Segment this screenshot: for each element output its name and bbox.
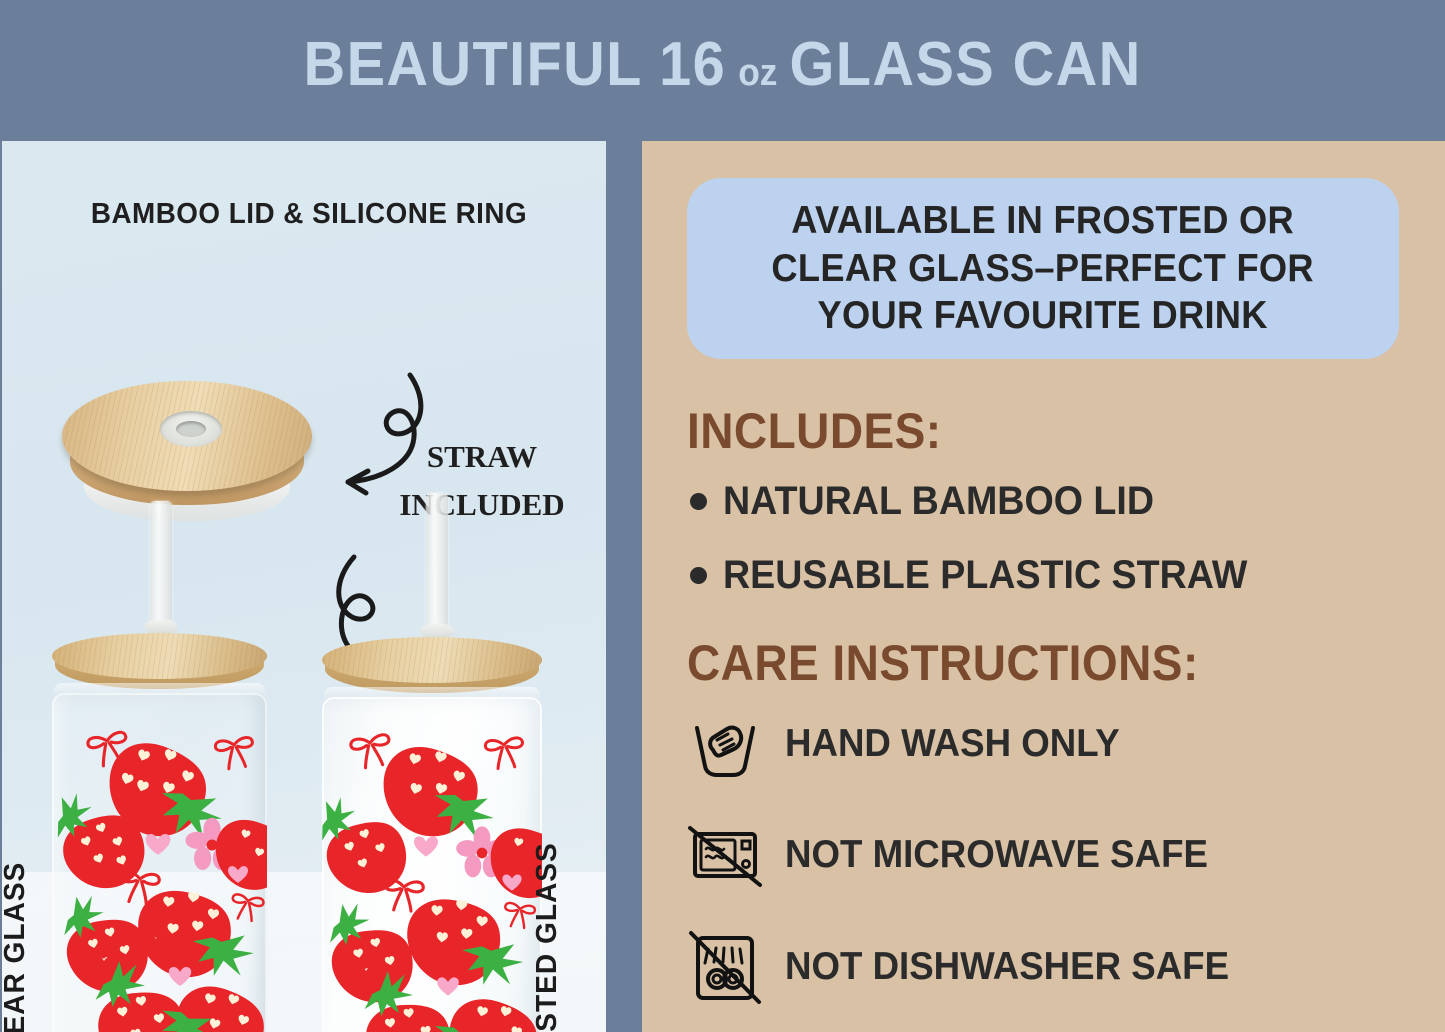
frosted-glass-can xyxy=(322,493,542,1032)
callout-line-1: AVAILABLE IN FROSTED OR xyxy=(772,197,1314,245)
lid-straw-hole xyxy=(160,411,222,447)
product-infographic: BEAUTIFUL 16 oz GLASS CAN BAMBOO LID & S… xyxy=(0,0,1445,1032)
straw-heading-line-1: STRAW xyxy=(372,433,592,481)
bamboo-lid-heading: BAMBOO LID & SILICONE RING xyxy=(26,198,592,231)
frosted-can-straw xyxy=(426,493,448,633)
includes-item-plastic-straw: REUSABLE PLASTIC STRAW xyxy=(690,553,1281,598)
includes-item-label: NATURAL BAMBOO LID xyxy=(723,479,1154,524)
frosted-glass-label: FROSTED GLASS xyxy=(531,842,564,1032)
strawberry-pattern-clear xyxy=(52,693,267,1032)
no-dishwasher-icon xyxy=(687,929,763,1005)
clear-can-straw xyxy=(150,501,172,629)
bullet-dot-icon xyxy=(690,567,707,584)
care-item-no-microwave: NOT MICROWAVE SAFE xyxy=(687,817,1235,893)
care-item-hand-wash: HAND WASH ONLY xyxy=(687,706,1141,782)
header-title-main: BEAUTIFUL 16 xyxy=(303,29,726,100)
care-item-no-dishwasher: NOT DISHWASHER SAFE xyxy=(687,929,1257,1005)
product-details-panel: AVAILABLE IN FROSTED OR CLEAR GLASS–PERF… xyxy=(642,141,1445,1032)
care-item-label: NOT DISHWASHER SAFE xyxy=(785,945,1229,989)
callout-line-2: CLEAR GLASS–PERFECT FOR xyxy=(772,245,1314,293)
includes-item-label: REUSABLE PLASTIC STRAW xyxy=(723,553,1247,598)
clear-can-body xyxy=(52,693,267,1032)
no-microwave-icon xyxy=(687,817,763,893)
includes-item-bamboo-lid: NATURAL BAMBOO LID xyxy=(690,479,1181,524)
availability-callout-text: AVAILABLE IN FROSTED OR CLEAR GLASS–PERF… xyxy=(772,197,1314,340)
frosted-can-lid-disc xyxy=(322,637,542,683)
product-photo-panel: BAMBOO LID & SILICONE RING STRAW INCLUDE… xyxy=(2,141,606,1032)
includes-title: INCLUDES: xyxy=(687,402,942,460)
clear-glass-can xyxy=(52,501,267,1032)
care-instructions-title: CARE INSTRUCTIONS: xyxy=(687,634,1199,692)
header-banner: BEAUTIFUL 16 oz GLASS CAN xyxy=(0,0,1445,128)
bullet-dot-icon xyxy=(690,493,707,510)
care-item-label: NOT MICROWAVE SAFE xyxy=(785,833,1208,877)
header-title-tail: GLASS CAN xyxy=(789,29,1141,100)
clear-glass-label: CLEAR GLASS xyxy=(2,862,32,1032)
hand-wash-icon xyxy=(687,706,763,782)
header-title-oz: oz xyxy=(738,52,777,95)
clear-can-lid-disc xyxy=(52,633,267,679)
frosted-can-body xyxy=(322,697,542,1032)
callout-line-3: YOUR FAVOURITE DRINK xyxy=(772,292,1314,340)
availability-callout: AVAILABLE IN FROSTED OR CLEAR GLASS–PERF… xyxy=(687,178,1399,359)
care-item-label: HAND WASH ONLY xyxy=(785,722,1120,766)
page-title: BEAUTIFUL 16 oz GLASS CAN xyxy=(303,29,1141,100)
strawberry-pattern-frosted xyxy=(322,697,542,1032)
